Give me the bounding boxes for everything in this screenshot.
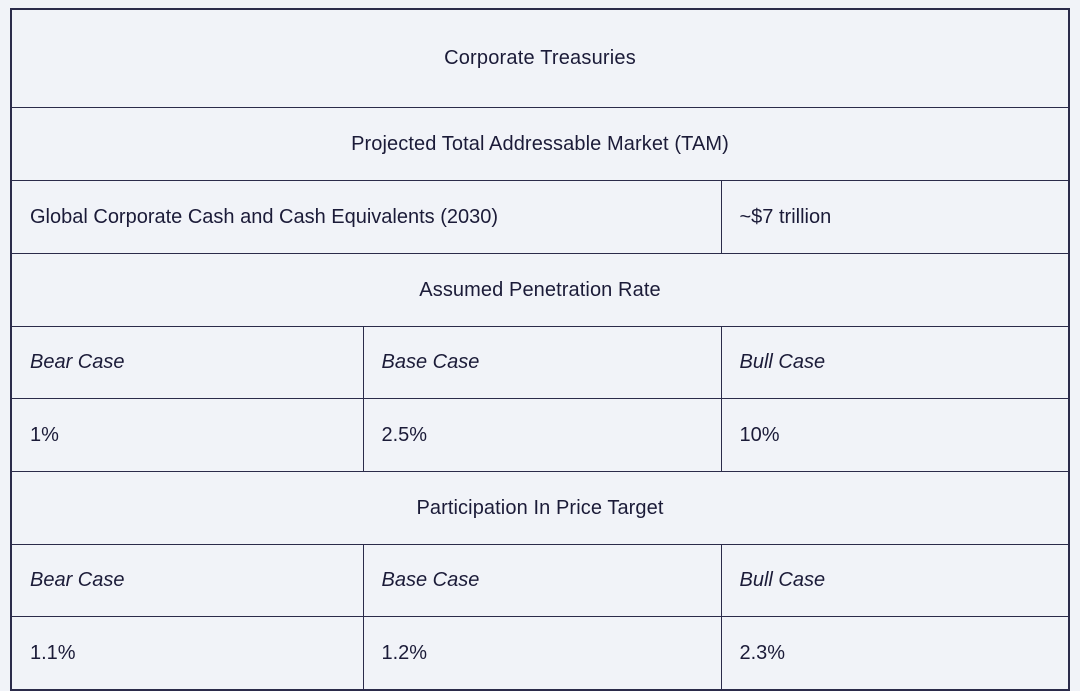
tam-label: Global Corporate Cash and Cash Equivalen… (11, 181, 721, 254)
participation-bear-case-label: Bear Case (11, 545, 363, 617)
tam-value: ~$7 trillion (721, 181, 1069, 254)
penetration-bull-case-value: 10% (721, 399, 1069, 472)
section-heading-participation-price-target: Participation In Price Target (11, 472, 1069, 545)
participation-bear-case-value: 1.1% (11, 617, 363, 691)
penetration-bull-case-label: Bull Case (721, 327, 1069, 399)
penetration-base-case-label: Base Case (363, 327, 721, 399)
table-section-heading-row: Projected Total Addressable Market (TAM) (11, 108, 1069, 181)
penetration-bear-case-value: 1% (11, 399, 363, 472)
penetration-bear-case-label: Bear Case (11, 327, 363, 399)
table-row: 1% 2.5% 10% (11, 399, 1069, 472)
table-row: Bear Case Base Case Bull Case (11, 327, 1069, 399)
participation-base-case-label: Base Case (363, 545, 721, 617)
table-title-row: Corporate Treasuries (11, 9, 1069, 108)
participation-bull-case-label: Bull Case (721, 545, 1069, 617)
penetration-base-case-value: 2.5% (363, 399, 721, 472)
table-section-heading-row: Participation In Price Target (11, 472, 1069, 545)
section-heading-penetration-rate: Assumed Penetration Rate (11, 254, 1069, 327)
table-row: Bear Case Base Case Bull Case (11, 545, 1069, 617)
table-row: 1.1% 1.2% 2.3% (11, 617, 1069, 691)
section-heading-tam: Projected Total Addressable Market (TAM) (11, 108, 1069, 181)
table-section-heading-row: Assumed Penetration Rate (11, 254, 1069, 327)
corporate-treasuries-table: Corporate Treasuries Projected Total Add… (10, 8, 1070, 691)
page-title: Corporate Treasuries (11, 9, 1069, 108)
participation-bull-case-value: 2.3% (721, 617, 1069, 691)
participation-base-case-value: 1.2% (363, 617, 721, 691)
table-row: Global Corporate Cash and Cash Equivalen… (11, 181, 1069, 254)
corporate-treasuries-table-container: Corporate Treasuries Projected Total Add… (10, 8, 1068, 676)
